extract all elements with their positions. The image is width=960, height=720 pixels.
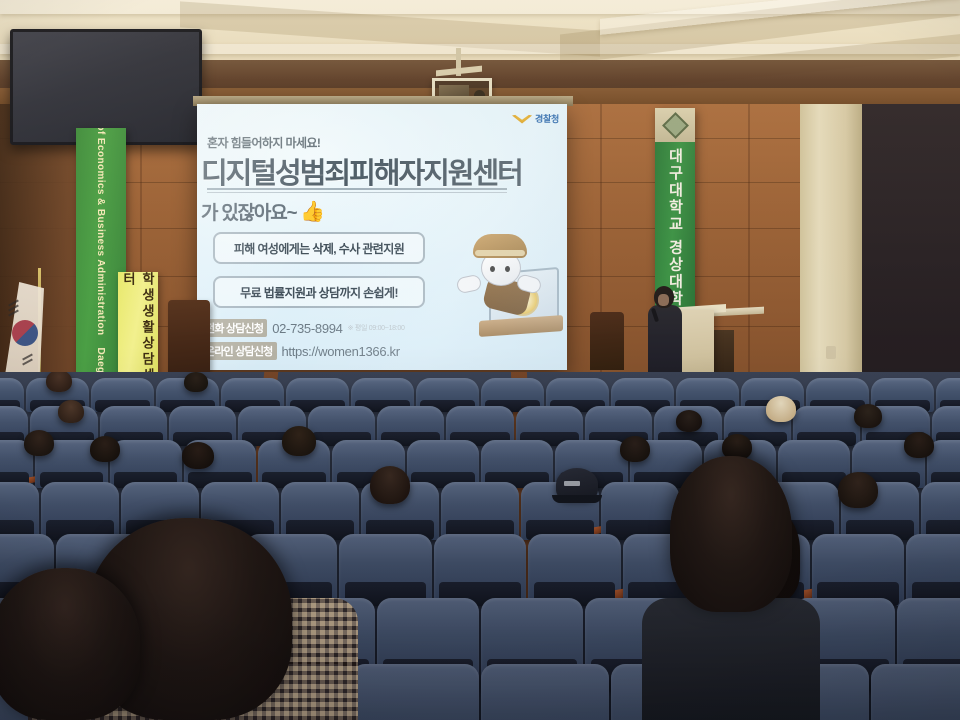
thumbs-up-icon: 👍 [300, 201, 322, 223]
slide-title: 디지털성범죄피해자지원센터 [201, 150, 522, 192]
wall-outlet [826, 346, 836, 359]
contact-online-value: https://women1366.kr [282, 344, 400, 359]
mascot-left-arm [456, 274, 483, 295]
banner-college-line1: College of Economics & Business Administ… [96, 128, 107, 335]
attendee-head [854, 404, 882, 428]
projection-screen: 경찰청 혼자 힘들어하지 마세요! 디지털성범죄피해자지원센터 가 있잖아요~ … [197, 104, 567, 370]
right-dark-recess [862, 104, 960, 404]
seat[interactable] [110, 440, 182, 488]
title-divider [207, 188, 507, 190]
police-agency-logo: 경찰청 [512, 112, 559, 125]
attendee-head [58, 400, 84, 423]
contact-phone-value: 02-735-8994 [272, 321, 342, 336]
university-emblem-icon [662, 112, 689, 139]
taeguk-circle-icon [12, 320, 38, 346]
audience-seating [0, 372, 960, 720]
banner-daegu-university-label: 대구대학교 경상대학 [665, 148, 686, 307]
title-divider-secondary [207, 192, 507, 193]
foreground-attendee-right-shirt [642, 598, 820, 720]
foreground-attendee-right-head [670, 456, 792, 612]
attendee-head [46, 372, 72, 392]
presenter-face [658, 294, 669, 306]
police-emblem-icon [512, 114, 532, 124]
stage-chair-left [168, 300, 210, 372]
attendee-head [24, 430, 54, 456]
contact-phone-tag: 전화 상담신청 [201, 319, 267, 337]
contact-online-row: 온라인 상담신청 https://women1366.kr [201, 342, 400, 360]
attendee-with-cap [556, 468, 598, 500]
slide-bullet-2: 무료 법률지원과 상담까지 손쉽게! [213, 276, 425, 308]
mascot-cap-band [475, 250, 525, 256]
banner-header-block [655, 108, 695, 142]
contact-phone-row: 전화 상담신청 02-735-8994 ※ 평일 09:00~18:00 [201, 319, 405, 337]
slide-subtitle-row: 가 있잖아요~ 👍 [201, 198, 322, 225]
slide-subtitle: 가 있잖아요~ [201, 198, 296, 225]
police-mascot-podori-icon [455, 222, 563, 352]
attendee-head [370, 466, 410, 504]
slide-bullet-1: 피해 여성에게는 삭제, 수사 관련지원 [213, 232, 425, 264]
police-agency-label: 경찰청 [535, 112, 559, 125]
attendee-head [904, 432, 934, 458]
foreground-attendee-far-left [0, 568, 140, 720]
cap-logo [564, 481, 581, 486]
attendee-head [90, 436, 120, 462]
seat[interactable] [921, 482, 960, 540]
attendee-head [676, 410, 702, 432]
mascot-eye-right [505, 266, 510, 272]
stage-chair-right [590, 312, 624, 370]
seat[interactable] [528, 534, 621, 606]
attendee-head [838, 472, 878, 508]
cap-brim [552, 495, 602, 503]
seat[interactable] [871, 664, 960, 720]
seat[interactable] [481, 440, 553, 488]
attendee-head [182, 442, 214, 469]
foreground-attendee-right [636, 456, 826, 720]
seat[interactable] [441, 482, 519, 540]
presentation-slide: 경찰청 혼자 힘들어하지 마세요! 디지털성범죄피해자지원센터 가 있잖아요~ … [197, 104, 567, 370]
foreground-attendee-far-left-head [0, 568, 140, 720]
contact-phone-note: ※ 평일 09:00~18:00 [348, 323, 405, 333]
seat[interactable] [906, 534, 960, 606]
attendee-head [184, 372, 208, 392]
seat[interactable] [407, 440, 479, 488]
seat[interactable] [434, 534, 527, 606]
mascot-eye-left [490, 266, 495, 272]
seat[interactable] [481, 664, 609, 720]
wall-pillar [800, 104, 864, 404]
attendee-head [282, 426, 316, 456]
seat[interactable] [351, 664, 479, 720]
attendee-head-blonde [766, 396, 796, 422]
auditorium-photo: College of Economics & Business Administ… [0, 0, 960, 720]
slide-pretitle: 혼자 힘들어하지 마세요! [207, 134, 320, 151]
contact-online-tag: 온라인 상담신청 [201, 342, 277, 360]
